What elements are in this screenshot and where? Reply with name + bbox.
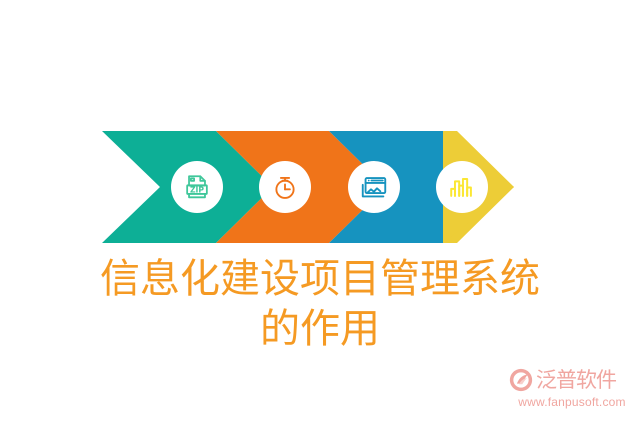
watermark-brand: 泛普软件 — [536, 367, 616, 393]
page-title: 信息化建设项目管理系统 的作用 — [0, 254, 640, 354]
watermark: 泛普软件 www.fanpusoft.com — [508, 366, 636, 416]
stopwatch-icon — [270, 172, 300, 202]
icon-badge-chart-window[interactable] — [348, 161, 400, 213]
icon-badge-stopwatch[interactable] — [259, 161, 311, 213]
icon-badge-zip[interactable]: ZIP — [171, 161, 223, 213]
chart-window-icon — [359, 172, 389, 202]
icon-badge-bar-chart[interactable] — [436, 161, 488, 213]
zip-icon-label: ZIP — [190, 185, 204, 194]
watermark-brand-row: 泛普软件 — [508, 366, 636, 394]
zip-file-icon: ZIP — [182, 172, 212, 202]
chevron-band: ZIP — [0, 0, 640, 270]
bar-chart-icon — [447, 172, 477, 202]
banner: ZIP — [0, 0, 640, 427]
watermark-url: www.fanpusoft.com — [508, 395, 636, 409]
chevron-graphic — [0, 0, 640, 270]
fanpu-logo-icon — [508, 367, 534, 393]
